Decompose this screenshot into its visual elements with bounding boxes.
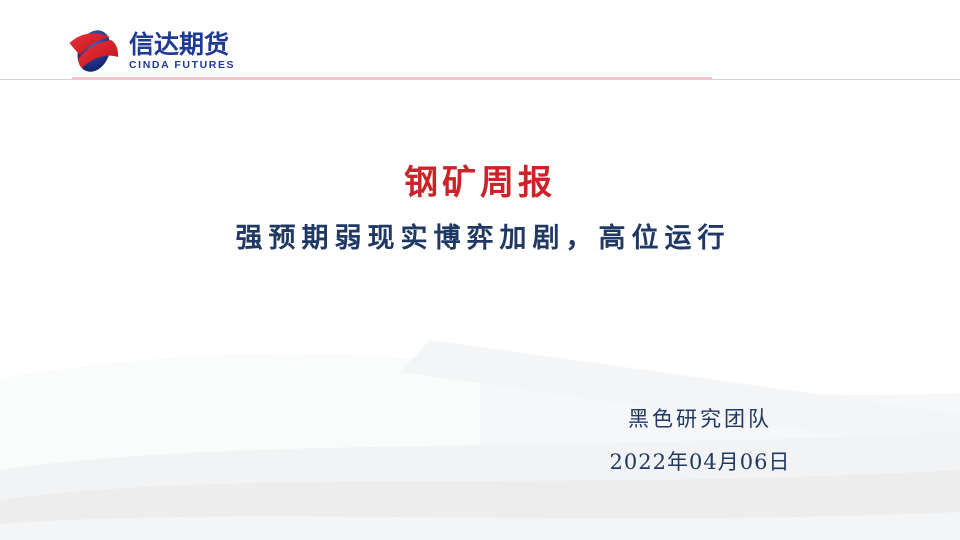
header-divider-line (0, 79, 960, 80)
header-divider-accent (72, 77, 712, 79)
report-date: 2022年04月06日 (560, 448, 840, 476)
title-area: 钢矿周报 强预期弱现实博弈加剧，高位运行 (0, 162, 960, 256)
report-subtitle: 强预期弱现实博弈加剧，高位运行 (0, 221, 960, 256)
report-cover-slide: 信达期货 CINDA FUTURES 钢矿周报 强预期弱现实博弈加剧，高位运行 … (0, 0, 960, 540)
company-name-en: CINDA FUTURES (129, 60, 235, 71)
decor-wave-lower (0, 470, 960, 540)
company-name-cn: 信达期货 (129, 33, 235, 59)
author-block: 黑色研究团队 2022年04月06日 (560, 405, 840, 477)
cinda-logo-mark (68, 28, 120, 74)
company-logo: 信达期货 CINDA FUTURES (68, 28, 235, 74)
slide-header: 信达期货 CINDA FUTURES (0, 0, 960, 80)
report-title: 钢矿周报 (0, 162, 960, 205)
decor-band-upper-left (0, 353, 480, 470)
logo-wordmark: 信达期货 CINDA FUTURES (129, 32, 235, 71)
research-team-name: 黑色研究团队 (560, 405, 840, 433)
decor-wave-bottom (0, 512, 960, 540)
